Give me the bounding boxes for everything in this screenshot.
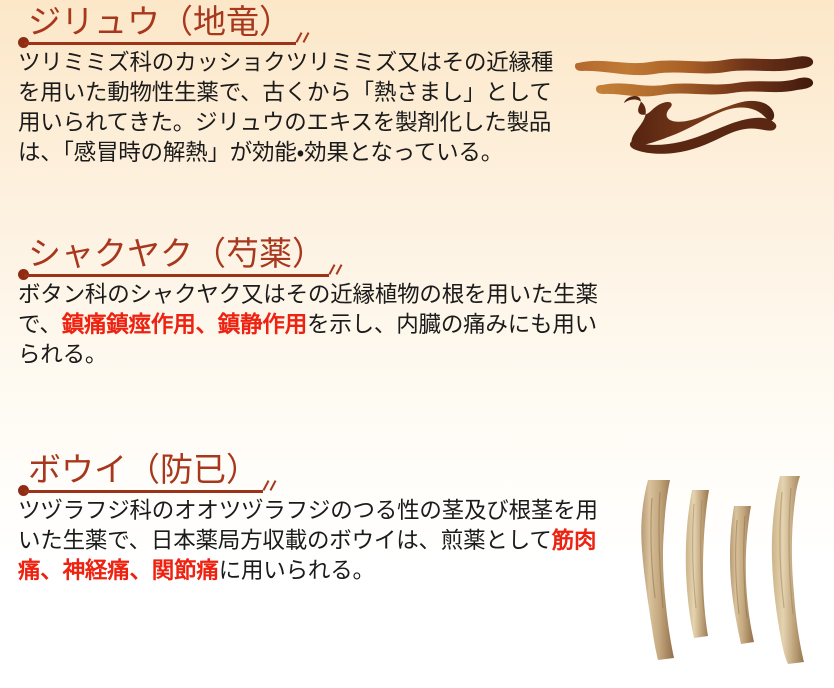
heading-underline <box>24 274 329 277</box>
heading-jiryu: ジリュウ（地竜） <box>14 0 294 45</box>
section-jiryu: ジリュウ（地竜） ツリミミズ科のカッショクツリミミズ又はその近縁種を用いた動物性… <box>0 0 834 168</box>
heading-shakuyaku: シャクヤク（芍薬） <box>14 232 327 277</box>
section-shakuyaku: シャクヤク（芍薬） ボタン科のシャクヤク又はその近縁植物の根を用いた生薬で、鎮痛… <box>0 232 834 370</box>
heading-shakuyaku-label: シャクヤク（芍薬） <box>28 232 327 277</box>
dried-earthworm-photo <box>572 24 824 172</box>
worm-strand-2 <box>596 78 813 97</box>
heading-accent-ticks-icon <box>261 475 283 491</box>
body-jiryu: ツリミミズ科のカッショクツリミミズ又はその近縁種を用いた動物性生薬で、古くから「… <box>18 48 560 168</box>
dried-earthworm-illustration <box>572 24 824 172</box>
body-shakuyaku: ボタン科のシャクヤク又はその近縁植物の根を用いた生薬で、鎮痛鎮痙作用、鎮静作用を… <box>18 280 616 370</box>
section-boui: ボウイ（防已） ツヅラフジ科のオオツヅラフジのつる性の茎及び根茎を用いた生薬で、… <box>0 448 834 586</box>
body-boui-text-2: に用いられる。 <box>219 558 375 584</box>
heading-accent-ticks-icon <box>327 259 349 275</box>
heading-jiryu-label: ジリュウ（地竜） <box>28 0 294 45</box>
worm-strand-1 <box>575 56 813 75</box>
heading-underline <box>24 42 296 45</box>
heading-boui: ボウイ（防已） <box>14 448 261 493</box>
body-boui-text-1: ツヅラフジ科のオオツヅラフジのつる性の茎及び根茎を用いた生薬で、日本薬局方収載の… <box>18 498 598 554</box>
heading-boui-label: ボウイ（防已） <box>28 448 261 493</box>
heading-underline <box>24 490 263 493</box>
body-jiryu-text: ツリミミズ科のカッショクツリミミズ又はその近縁種を用いた動物性生薬で、古くから「… <box>18 50 553 166</box>
heading-accent-ticks-icon <box>294 27 316 43</box>
herbal-medicine-info-page: ジリュウ（地竜） ツリミミズ科のカッショクツリミミズ又はその近縁種を用いた動物性… <box>0 0 834 688</box>
body-shakuyaku-highlight: 鎮痛鎮痙作用、鎮静作用 <box>62 312 307 338</box>
body-boui: ツヅラフジ科のオオツヅラフジのつる性の茎及び根茎を用いた生薬で、日本薬局方収載の… <box>18 496 616 586</box>
